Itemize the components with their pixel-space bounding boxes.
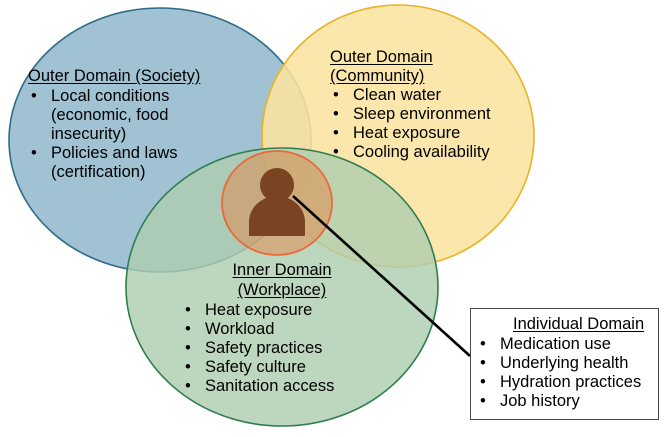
individual-domain-box: Individual Domain •Medication use •Under… <box>470 308 659 420</box>
list-item: (certification) <box>28 163 243 182</box>
list-item-label: Workload <box>205 320 274 338</box>
individual-box-content: Individual Domain •Medication use •Under… <box>477 315 644 411</box>
diagram-canvas: Outer Domain (Society) •Local conditions… <box>0 0 667 437</box>
list-item: •Heat exposure <box>330 124 520 143</box>
bullet-icon: • <box>333 105 339 124</box>
community-title-line1: Outer Domain <box>330 48 520 67</box>
list-item-label: Underlying health <box>500 354 628 372</box>
list-item-label: (certification) <box>51 163 145 181</box>
list-item: •Sanitation access <box>182 377 382 396</box>
list-item: •Hydration practices <box>477 373 644 392</box>
society-text-block: Outer Domain (Society) •Local conditions… <box>28 67 243 182</box>
community-text-block: Outer Domain (Community) •Clean water •S… <box>330 48 520 162</box>
list-item-label: Cooling availability <box>353 143 490 161</box>
bullet-icon: • <box>31 87 37 106</box>
bullet-icon: • <box>480 354 486 373</box>
bullet-icon: • <box>480 392 486 411</box>
bullet-icon: • <box>333 143 339 162</box>
list-item: •Underlying health <box>477 354 644 373</box>
list-item: •Local conditions <box>28 87 243 106</box>
bullet-icon: • <box>185 320 191 339</box>
list-item: •Clean water <box>330 86 520 105</box>
society-list: •Local conditions (economic, food insecu… <box>28 87 243 183</box>
bullet-icon: • <box>480 373 486 392</box>
list-item-label: Local conditions <box>51 87 169 105</box>
individual-title: Individual Domain <box>513 315 644 334</box>
list-item: insecurity) <box>28 125 243 144</box>
workplace-title-line1: Inner Domain <box>182 261 382 280</box>
list-item: •Cooling availability <box>330 143 520 162</box>
list-item: •Medication use <box>477 335 644 354</box>
list-item-label: Job history <box>500 392 580 410</box>
list-item: •Policies and laws <box>28 144 243 163</box>
list-item-label: Sanitation access <box>205 377 334 395</box>
list-item-label: Safety practices <box>205 339 322 357</box>
list-item: •Safety practices <box>182 339 382 358</box>
workplace-text-block: Inner Domain (Workplace) •Heat exposure … <box>182 261 382 396</box>
list-item-label: Medication use <box>500 335 611 353</box>
list-item: •Safety culture <box>182 358 382 377</box>
bullet-icon: • <box>185 358 191 377</box>
list-item-label: Hydration practices <box>500 373 641 391</box>
bullet-icon: • <box>185 377 191 396</box>
list-item: •Heat exposure <box>182 301 382 320</box>
community-list: •Clean water •Sleep environment •Heat ex… <box>330 86 520 163</box>
list-item: •Job history <box>477 392 644 411</box>
bullet-icon: • <box>333 124 339 143</box>
list-item-label: insecurity) <box>51 125 126 143</box>
bullet-icon: • <box>333 86 339 105</box>
list-item-label: Heat exposure <box>353 124 460 142</box>
workplace-title-line2: (Workplace) <box>182 281 382 300</box>
bullet-icon: • <box>480 335 486 354</box>
bullet-icon: • <box>185 339 191 358</box>
bullet-icon: • <box>185 301 191 320</box>
list-item-label: Policies and laws <box>51 144 178 162</box>
list-item-label: Heat exposure <box>205 301 312 319</box>
list-item-label: Clean water <box>353 86 441 104</box>
list-item-label: Sleep environment <box>353 105 491 123</box>
list-item-label: Safety culture <box>205 358 306 376</box>
bullet-icon: • <box>31 144 37 163</box>
community-title-line2: (Community) <box>330 67 520 86</box>
list-item: (economic, food <box>28 106 243 125</box>
workplace-list: •Heat exposure •Workload •Safety practic… <box>182 301 382 397</box>
individual-list: •Medication use •Underlying health •Hydr… <box>477 335 644 412</box>
list-item-label: (economic, food <box>51 106 168 124</box>
list-item: •Workload <box>182 320 382 339</box>
list-item: •Sleep environment <box>330 105 520 124</box>
society-title: Outer Domain (Society) <box>28 67 243 86</box>
